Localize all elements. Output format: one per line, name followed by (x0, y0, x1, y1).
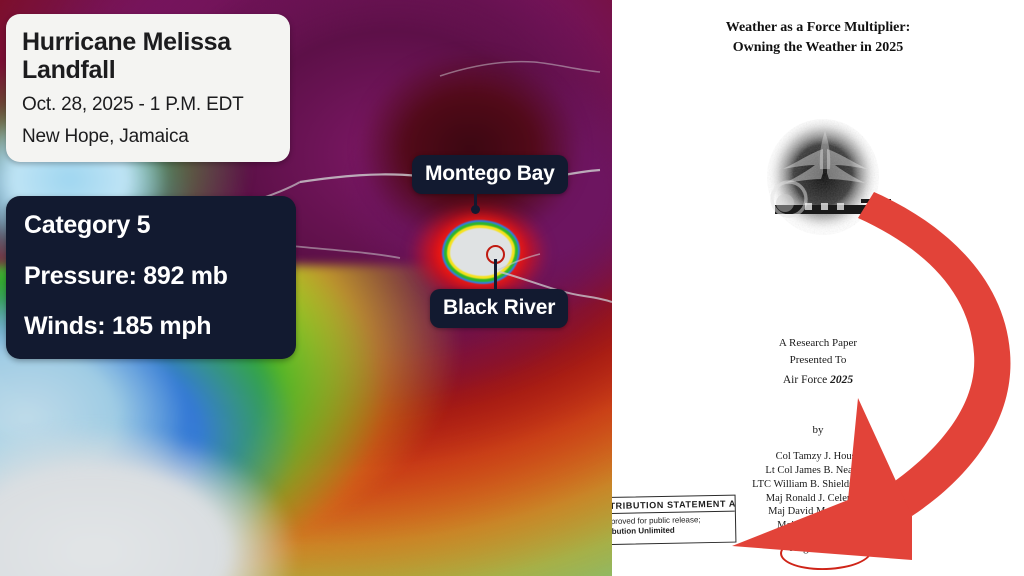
paper-title: Weather as a Force Multiplier: Owning th… (612, 18, 1024, 59)
hurricane-radar-map[interactable]: Hurricane Melissa Landfall Oct. 28, 2025… (0, 0, 612, 576)
map-label-black-river-text: Black River (430, 289, 568, 328)
map-label-montego-bay-text: Montego Bay (412, 155, 568, 194)
hurricane-info-card: Hurricane Melissa Landfall Oct. 28, 2025… (6, 14, 290, 162)
stat-pressure: Pressure: 892 mb (24, 263, 278, 291)
screenshot-stage: Hurricane Melissa Landfall Oct. 28, 2025… (0, 0, 1024, 576)
paper-title-line1: Weather as a Force Multiplier: (612, 18, 1024, 38)
map-label-montego-bay[interactable]: Montego Bay (412, 155, 568, 194)
map-label-black-river[interactable]: Black River (430, 289, 568, 328)
air-force-year: 2025 (830, 374, 853, 386)
map-label-stem (494, 259, 497, 291)
presented-to-line: Presented To (612, 352, 1024, 369)
info-card-datetime: Oct. 28, 2025 - 1 P.M. EDT (22, 94, 274, 116)
stat-category: Category 5 (24, 212, 278, 240)
research-paper-cover[interactable]: Weather as a Force Multiplier: Owning th… (612, 0, 1024, 576)
list-item: Col Tamzy J. House (612, 450, 1024, 464)
info-card-title: Hurricane Melissa Landfall (22, 28, 274, 84)
hurricane-stats-card: Category 5 Pressure: 892 mb Winds: 185 m… (6, 196, 296, 359)
list-item: Lt Col James B. Near, Jr. (612, 464, 1024, 478)
air-force-winged-emblem (745, 103, 905, 255)
paper-presented-block: A Research Paper Presented To (612, 335, 1024, 368)
air-force-line: Air Force 2025 (612, 374, 1024, 386)
by-line: by (612, 424, 1024, 436)
info-card-location: New Hope, Jamaica (22, 126, 274, 148)
paper-title-line2: Owning the Weather in 2025 (612, 38, 1024, 58)
stat-winds: Winds: 185 mph (24, 313, 278, 341)
distribution-statement-stamp: DISTRIBUTION STATEMENT A Approved for pu… (612, 495, 736, 546)
list-item: LTC William B. Shields (USA) (612, 478, 1024, 492)
air-force-prefix: Air Force (783, 374, 830, 386)
map-dot-marker (471, 205, 480, 214)
research-paper-line: A Research Paper (612, 335, 1024, 352)
